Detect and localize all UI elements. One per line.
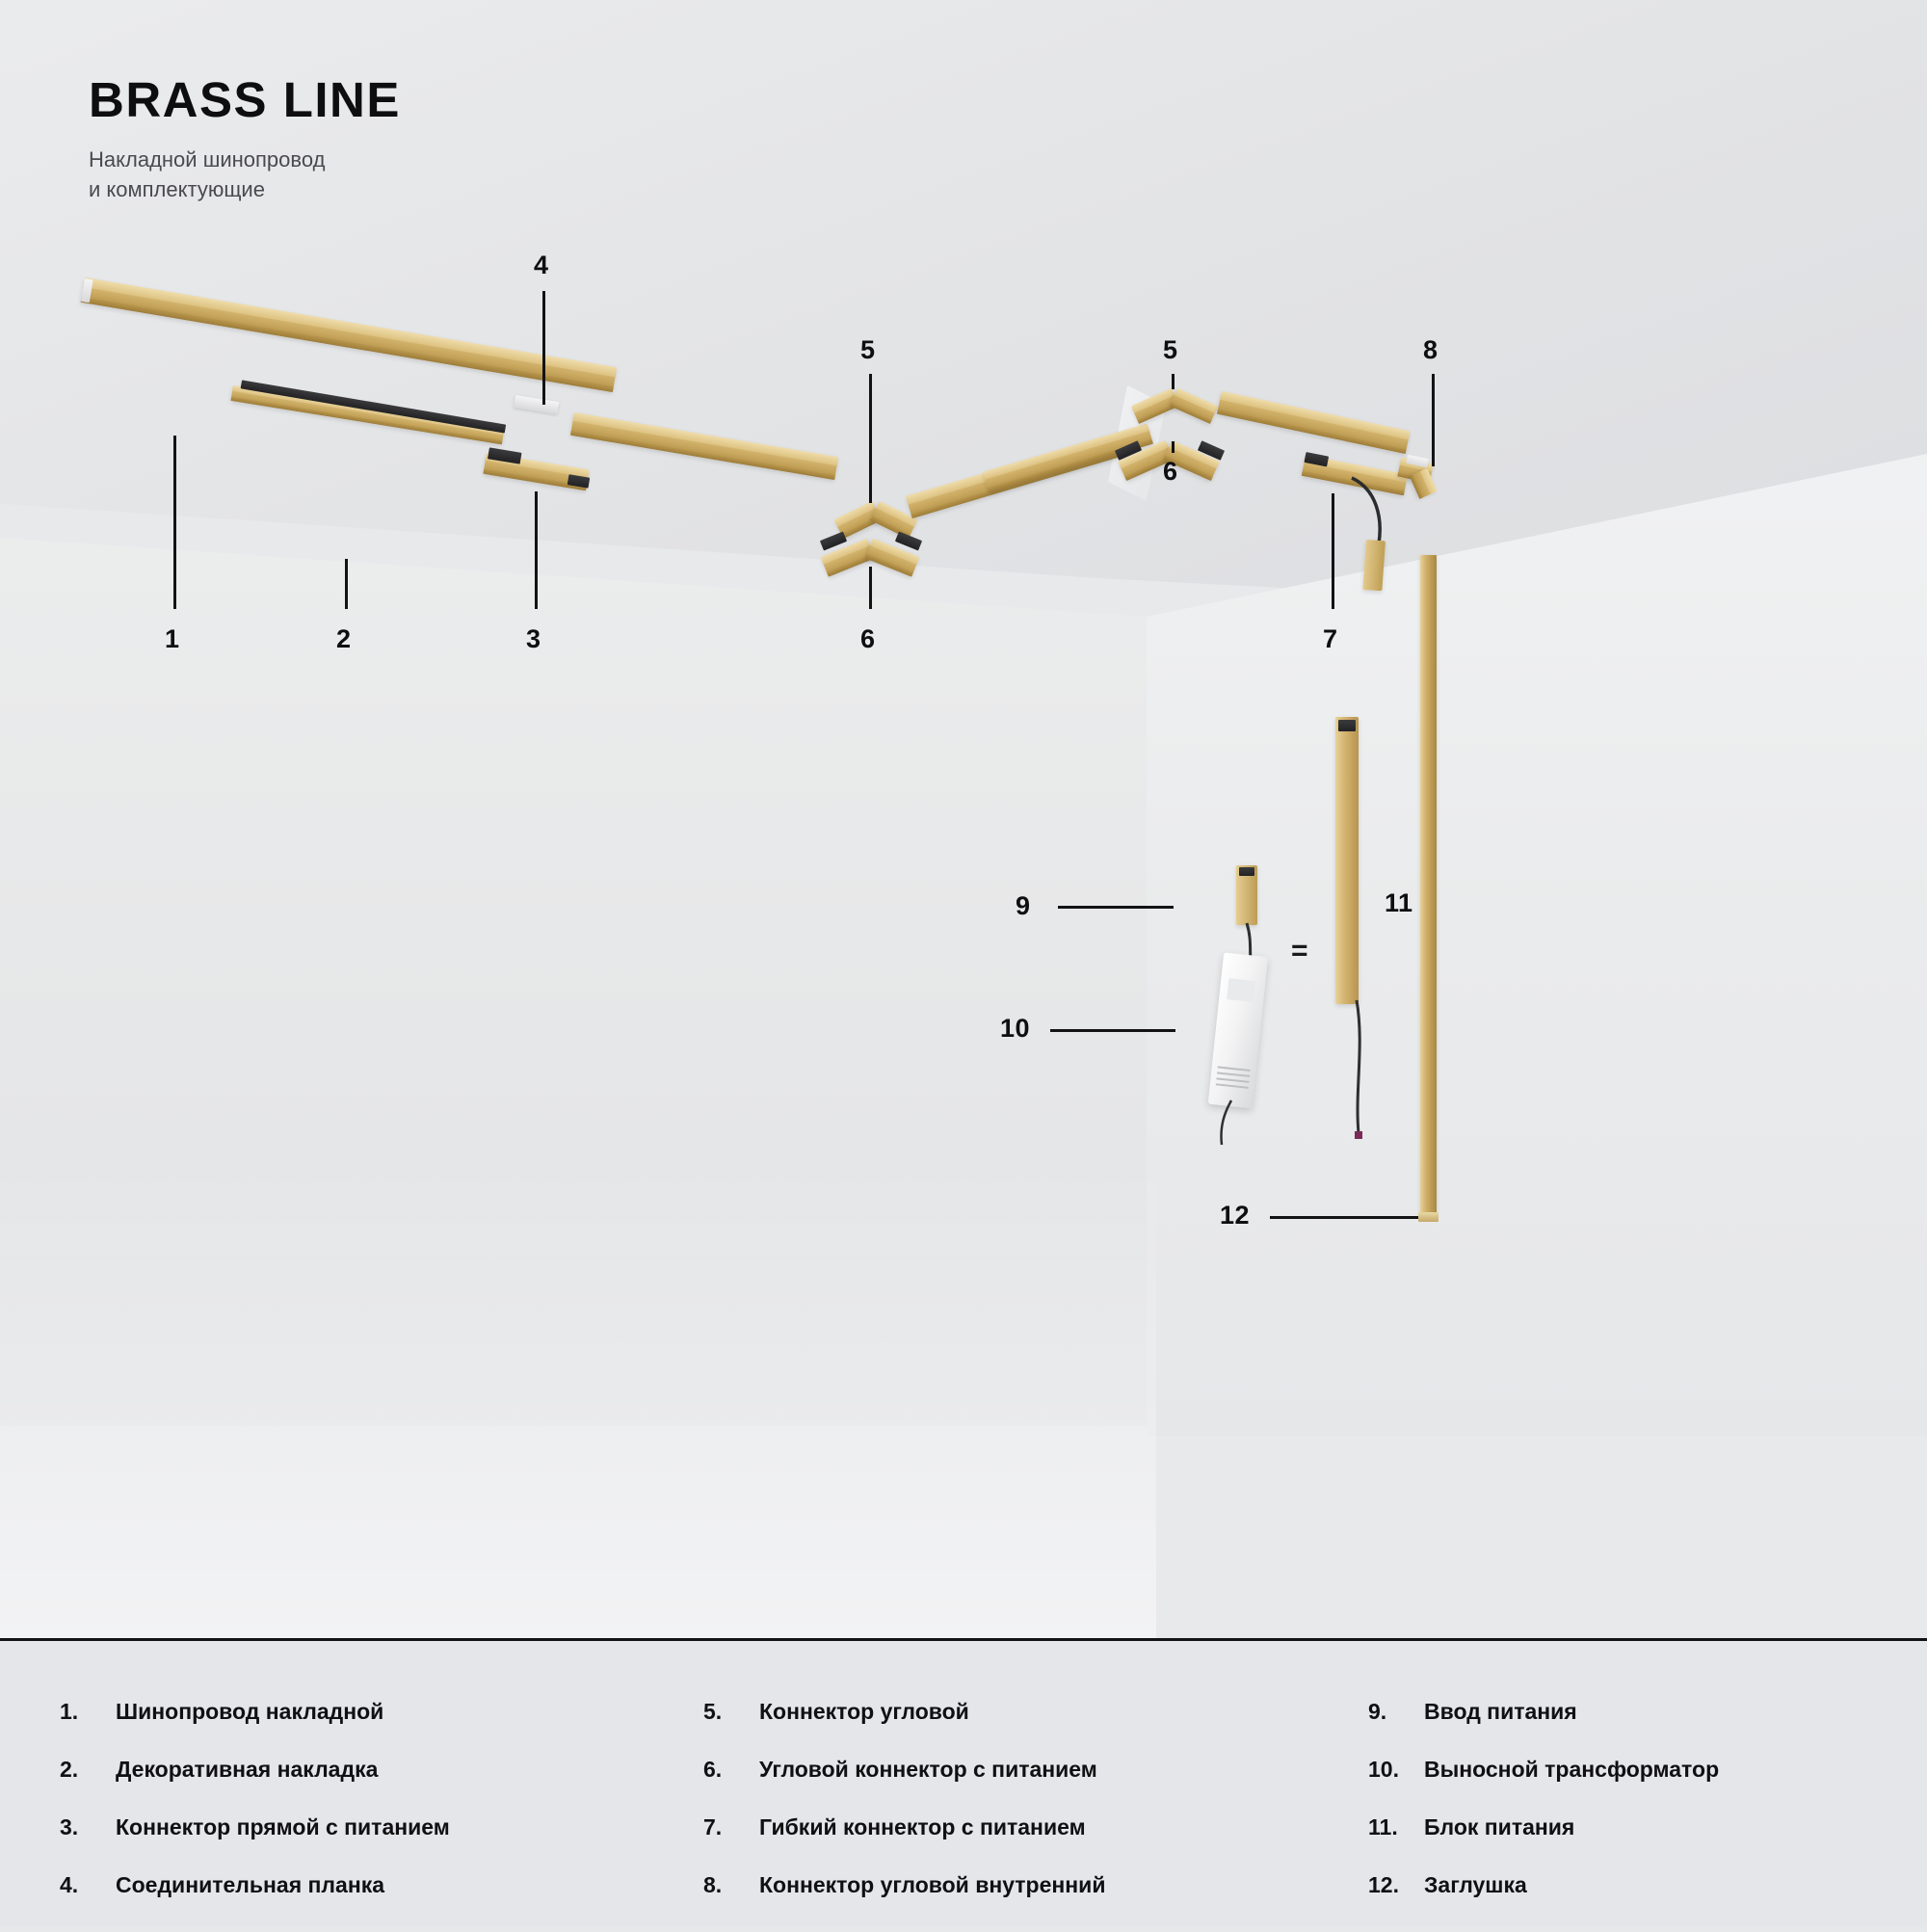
- transformer-cable: [1195, 1098, 1253, 1156]
- legend-item: 2. Декоративная накладка: [60, 1759, 674, 1781]
- callout-7: 7: [1323, 626, 1338, 652]
- legend-label: Соединительная планка: [116, 1874, 384, 1896]
- legend-number: 3.: [60, 1816, 116, 1839]
- legend-label: Заглушка: [1424, 1874, 1527, 1896]
- leader-line-2: [345, 559, 348, 609]
- callout-3: 3: [526, 626, 541, 652]
- legend-number: 9.: [1368, 1701, 1424, 1723]
- leader-line-6a: [869, 567, 872, 609]
- legend-item: 11. Блок питания: [1368, 1816, 1927, 1839]
- legend-label: Выносной трансформатор: [1424, 1759, 1719, 1781]
- legend-label: Блок питания: [1424, 1816, 1574, 1839]
- page-title: BRASS LINE: [89, 75, 401, 124]
- legend-item: 3. Коннектор прямой с питанием: [60, 1816, 674, 1839]
- callout-2: 2: [336, 626, 352, 652]
- equals-sign: =: [1291, 935, 1308, 967]
- legend-label: Угловой коннектор с питанием: [759, 1759, 1097, 1781]
- callout-11: 11: [1385, 890, 1413, 916]
- callout-5a: 5: [860, 337, 876, 363]
- leader-line-3: [535, 491, 538, 609]
- legend-column-1: 1. Шинопровод накладной 2. Декоративная …: [0, 1701, 674, 1932]
- callout-8: 8: [1423, 337, 1439, 363]
- legend-number: 7.: [703, 1816, 759, 1839]
- legend-number: 2.: [60, 1759, 116, 1781]
- callout-6b: 6: [1163, 459, 1178, 485]
- page-subtitle: Накладной шинопровод и комплектующие: [89, 145, 401, 204]
- leader-line-1: [173, 436, 176, 609]
- legend-panel: 1. Шинопровод накладной 2. Декоративная …: [0, 1638, 1927, 1927]
- legend-item: 10. Выносной трансформатор: [1368, 1759, 1927, 1781]
- leader-line-12: [1270, 1216, 1418, 1219]
- product-scene: 1 2 3 4 5 6 5 6 7 8 9 10 11 12 = BRASS L…: [0, 0, 1927, 1638]
- legend-item: 1. Шинопровод накладной: [60, 1701, 674, 1723]
- leader-line-7: [1332, 493, 1334, 609]
- leader-line-9: [1058, 906, 1174, 909]
- legend-label: Коннектор угловой внутренний: [759, 1874, 1105, 1896]
- callout-6a: 6: [860, 626, 876, 652]
- legend-number: 4.: [60, 1874, 116, 1896]
- subtitle-line-1: Накладной шинопровод: [89, 145, 401, 174]
- leader-line-8: [1432, 374, 1435, 466]
- legend-item: 5. Коннектор угловой: [703, 1701, 1349, 1723]
- callout-12: 12: [1220, 1203, 1250, 1229]
- leader-line-5b: [1172, 374, 1175, 389]
- power-supply-cable: [1341, 998, 1399, 1143]
- callout-4: 4: [534, 252, 549, 278]
- legend-item: 7. Гибкий коннектор с питанием: [703, 1816, 1349, 1839]
- legend-number: 1.: [60, 1701, 116, 1723]
- legend-label: Коннектор прямой с питанием: [116, 1816, 450, 1839]
- legend-item: 9. Ввод питания: [1368, 1701, 1927, 1723]
- legend-item: 8. Коннектор угловой внутренний: [703, 1874, 1349, 1896]
- legend-number: 6.: [703, 1759, 759, 1781]
- legend-item: 12. Заглушка: [1368, 1874, 1927, 1896]
- leader-line-5a: [869, 374, 872, 503]
- callout-9: 9: [1016, 893, 1031, 919]
- legend-label: Шинопровод накладной: [116, 1701, 383, 1723]
- header-block: BRASS LINE Накладной шинопровод и компле…: [89, 75, 401, 204]
- callout-5b: 5: [1163, 337, 1178, 363]
- legend-label: Коннектор угловой: [759, 1701, 969, 1723]
- legend-label: Декоративная накладка: [116, 1759, 378, 1781]
- legend-item: 4. Соединительная планка: [60, 1874, 674, 1896]
- callout-1: 1: [165, 626, 180, 652]
- legend-column-2: 5. Коннектор угловой 6. Угловой коннекто…: [674, 1701, 1349, 1932]
- leader-line-4: [542, 291, 545, 405]
- legend-label: Гибкий коннектор с питанием: [759, 1816, 1086, 1839]
- leader-line-6b: [1172, 441, 1175, 453]
- legend-label: Ввод питания: [1424, 1701, 1577, 1723]
- legend-number: 12.: [1368, 1874, 1424, 1896]
- callout-10: 10: [1000, 1016, 1030, 1042]
- legend-column-3: 9. Ввод питания 10. Выносной трансформат…: [1349, 1701, 1927, 1932]
- subtitle-line-2: и комплектующие: [89, 174, 401, 204]
- floor-light-wash: [0, 1156, 1156, 1638]
- legend-number: 8.: [703, 1874, 759, 1896]
- leader-line-10: [1050, 1029, 1175, 1032]
- legend-number: 11.: [1368, 1816, 1424, 1839]
- legend-item: 6. Угловой коннектор с питанием: [703, 1759, 1349, 1781]
- legend-number: 5.: [703, 1701, 759, 1723]
- legend-number: 10.: [1368, 1759, 1424, 1781]
